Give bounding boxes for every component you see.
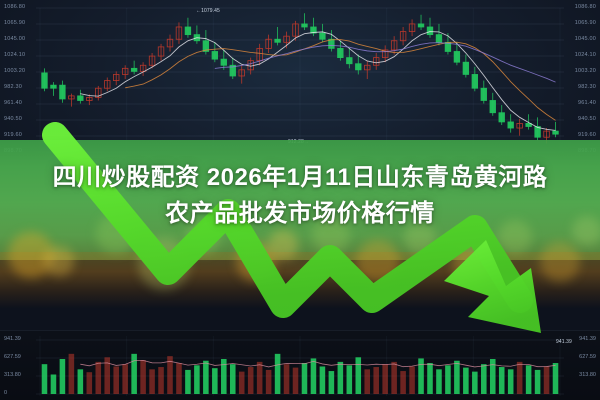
stock-banner-image: 1086.801065.901045.001024.101003.20982.3… [0,0,600,400]
downward-trend-arrow [0,0,600,400]
